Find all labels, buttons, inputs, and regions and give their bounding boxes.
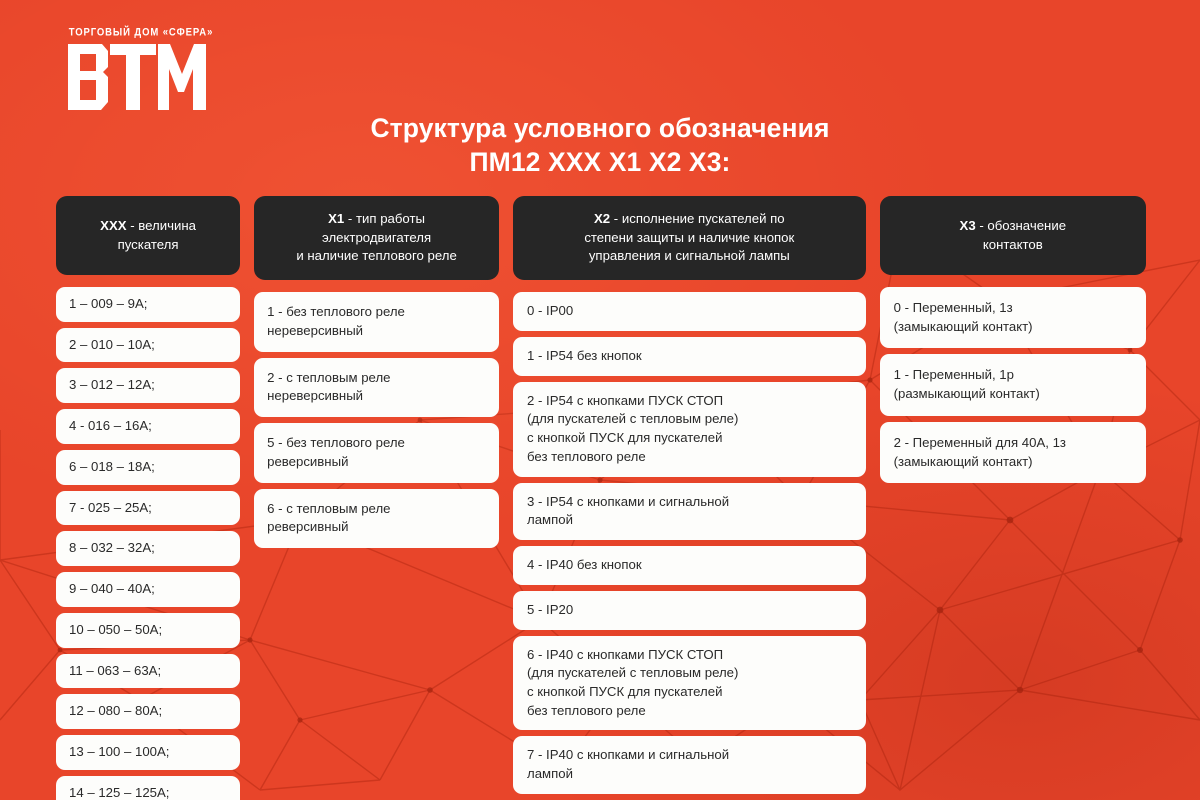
column-header-text-x3: - обозначение контактов [976,218,1066,252]
list-item[interactable]: 7 - 025 – 25А; [56,491,240,526]
list-item[interactable]: 2 – 010 – 10А; [56,328,240,363]
page-title-line-1: Структура условного обозначения [260,112,940,146]
column-header-text-x2: - исполнение пускателей по степени защит… [584,211,794,263]
list-item[interactable]: 5 - без теплового реле реверсивный [254,423,499,482]
list-item[interactable]: 1 – 009 – 9А; [56,287,240,322]
list-item[interactable]: 4 - IP40 без кнопок [513,546,866,585]
list-item[interactable]: 0 - Переменный, 1з (замыкающий контакт) [880,287,1146,348]
list-item[interactable]: 2 - с тепловым реле нереверсивный [254,358,499,417]
list-item[interactable]: 2 - Переменный для 40А, 1з (замыкающий к… [880,422,1146,483]
column-code-xxx: XXX [100,218,126,233]
designation-columns: XXX - величина пускателя 1 – 009 – 9А; 2… [56,196,1146,800]
column-xxx: XXX - величина пускателя 1 – 009 – 9А; 2… [56,196,240,800]
list-item[interactable]: 6 - с тепловым реле реверсивный [254,489,499,548]
list-item[interactable]: 1 - без теплового реле нереверсивный [254,292,499,351]
list-item[interactable]: 2 - IP54 с кнопками ПУСК СТОП (для пуска… [513,382,866,477]
list-item[interactable]: 10 – 050 – 50А; [56,613,240,648]
column-header-xxx: XXX - величина пускателя [56,196,240,275]
column-code-x1: X1 [328,211,344,226]
list-item[interactable]: 5 - IP20 [513,591,866,630]
list-item[interactable]: 6 - IP40 с кнопками ПУСК СТОП (для пуска… [513,636,866,731]
column-header-x3: X3 - обозначение контактов [880,196,1146,275]
list-item[interactable]: 9 – 040 – 40А; [56,572,240,607]
vtm-wordmark-icon [66,44,208,110]
list-item[interactable]: 1 - IP54 без кнопок [513,337,866,376]
list-item[interactable]: 6 – 018 – 18А; [56,450,240,485]
column-x1: X1 - тип работы электродвигателя и налич… [254,196,499,554]
brand-logo: ТОРГОВЫЙ ДОМ «СФЕРА» [66,26,216,110]
list-item[interactable]: 13 – 100 – 100А; [56,735,240,770]
list-item[interactable]: 3 - IP54 с кнопками и сигнальной лампой [513,483,866,540]
list-item[interactable]: 8 – 032 – 32А; [56,531,240,566]
column-header-x2: X2 - исполнение пускателей по степени за… [513,196,866,280]
list-item[interactable]: 1 - Переменный, 1р (размыкающий контакт) [880,354,1146,415]
column-x3: X3 - обозначение контактов 0 - Переменны… [880,196,1146,489]
column-x2: X2 - исполнение пускателей по степени за… [513,196,866,800]
list-item[interactable]: 12 – 080 – 80А; [56,694,240,729]
list-item[interactable]: 3 – 012 – 12А; [56,368,240,403]
infographic-page: ТОРГОВЫЙ ДОМ «СФЕРА» Структура условного… [0,0,1200,800]
column-header-x1: X1 - тип работы электродвигателя и налич… [254,196,499,280]
list-item[interactable]: 14 – 125 – 125А; [56,776,240,800]
list-item[interactable]: 0 - IP00 [513,292,866,331]
brand-tagline: ТОРГОВЫЙ ДОМ «СФЕРА» [66,26,216,39]
list-item[interactable]: 4 - 016 – 16А; [56,409,240,444]
page-title-line-2: ПМ12 XXX X1 X2 X3: [260,146,940,180]
page-title: Структура условного обозначения ПМ12 XXX… [260,112,940,180]
column-code-x2: X2 [594,211,610,226]
column-header-text-x1: - тип работы электродвигателя и наличие … [296,211,456,263]
column-code-x3: X3 [960,218,976,233]
list-item[interactable]: 11 – 063 – 63А; [56,654,240,689]
list-item[interactable]: 7 - IP40 с кнопками и сигнальной лампой [513,736,866,793]
column-header-text-xxx: - величина пускателя [118,218,196,252]
